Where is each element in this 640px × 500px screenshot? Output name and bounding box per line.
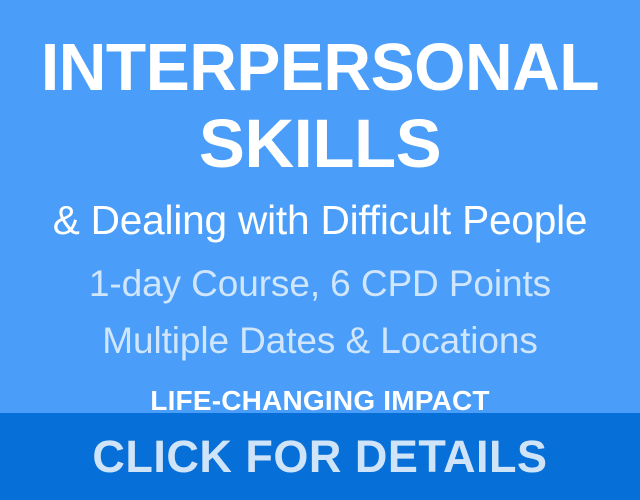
headline-line-primary: INTERPERSONAL xyxy=(5,36,635,100)
call-to-action-bar[interactable]: CLICK FOR DETAILS xyxy=(0,413,640,500)
banner-subtitle: & Dealing with Difficult People xyxy=(3,200,637,241)
course-dates-detail: Multiple Dates & Locations xyxy=(0,322,640,359)
banner-message-area: INTERPERSONAL SKILLS & Dealing with Diff… xyxy=(0,0,640,413)
course-duration-detail: 1-day Course, 6 CPD Points xyxy=(0,265,640,302)
headline-line-secondary: SKILLS xyxy=(0,111,640,177)
call-to-action-label[interactable]: CLICK FOR DETAILS xyxy=(92,434,547,479)
banner-tagline: LIFE-CHANGING IMPACT xyxy=(0,387,640,415)
advertisement-banner[interactable]: INTERPERSONAL SKILLS & Dealing with Diff… xyxy=(0,0,640,500)
